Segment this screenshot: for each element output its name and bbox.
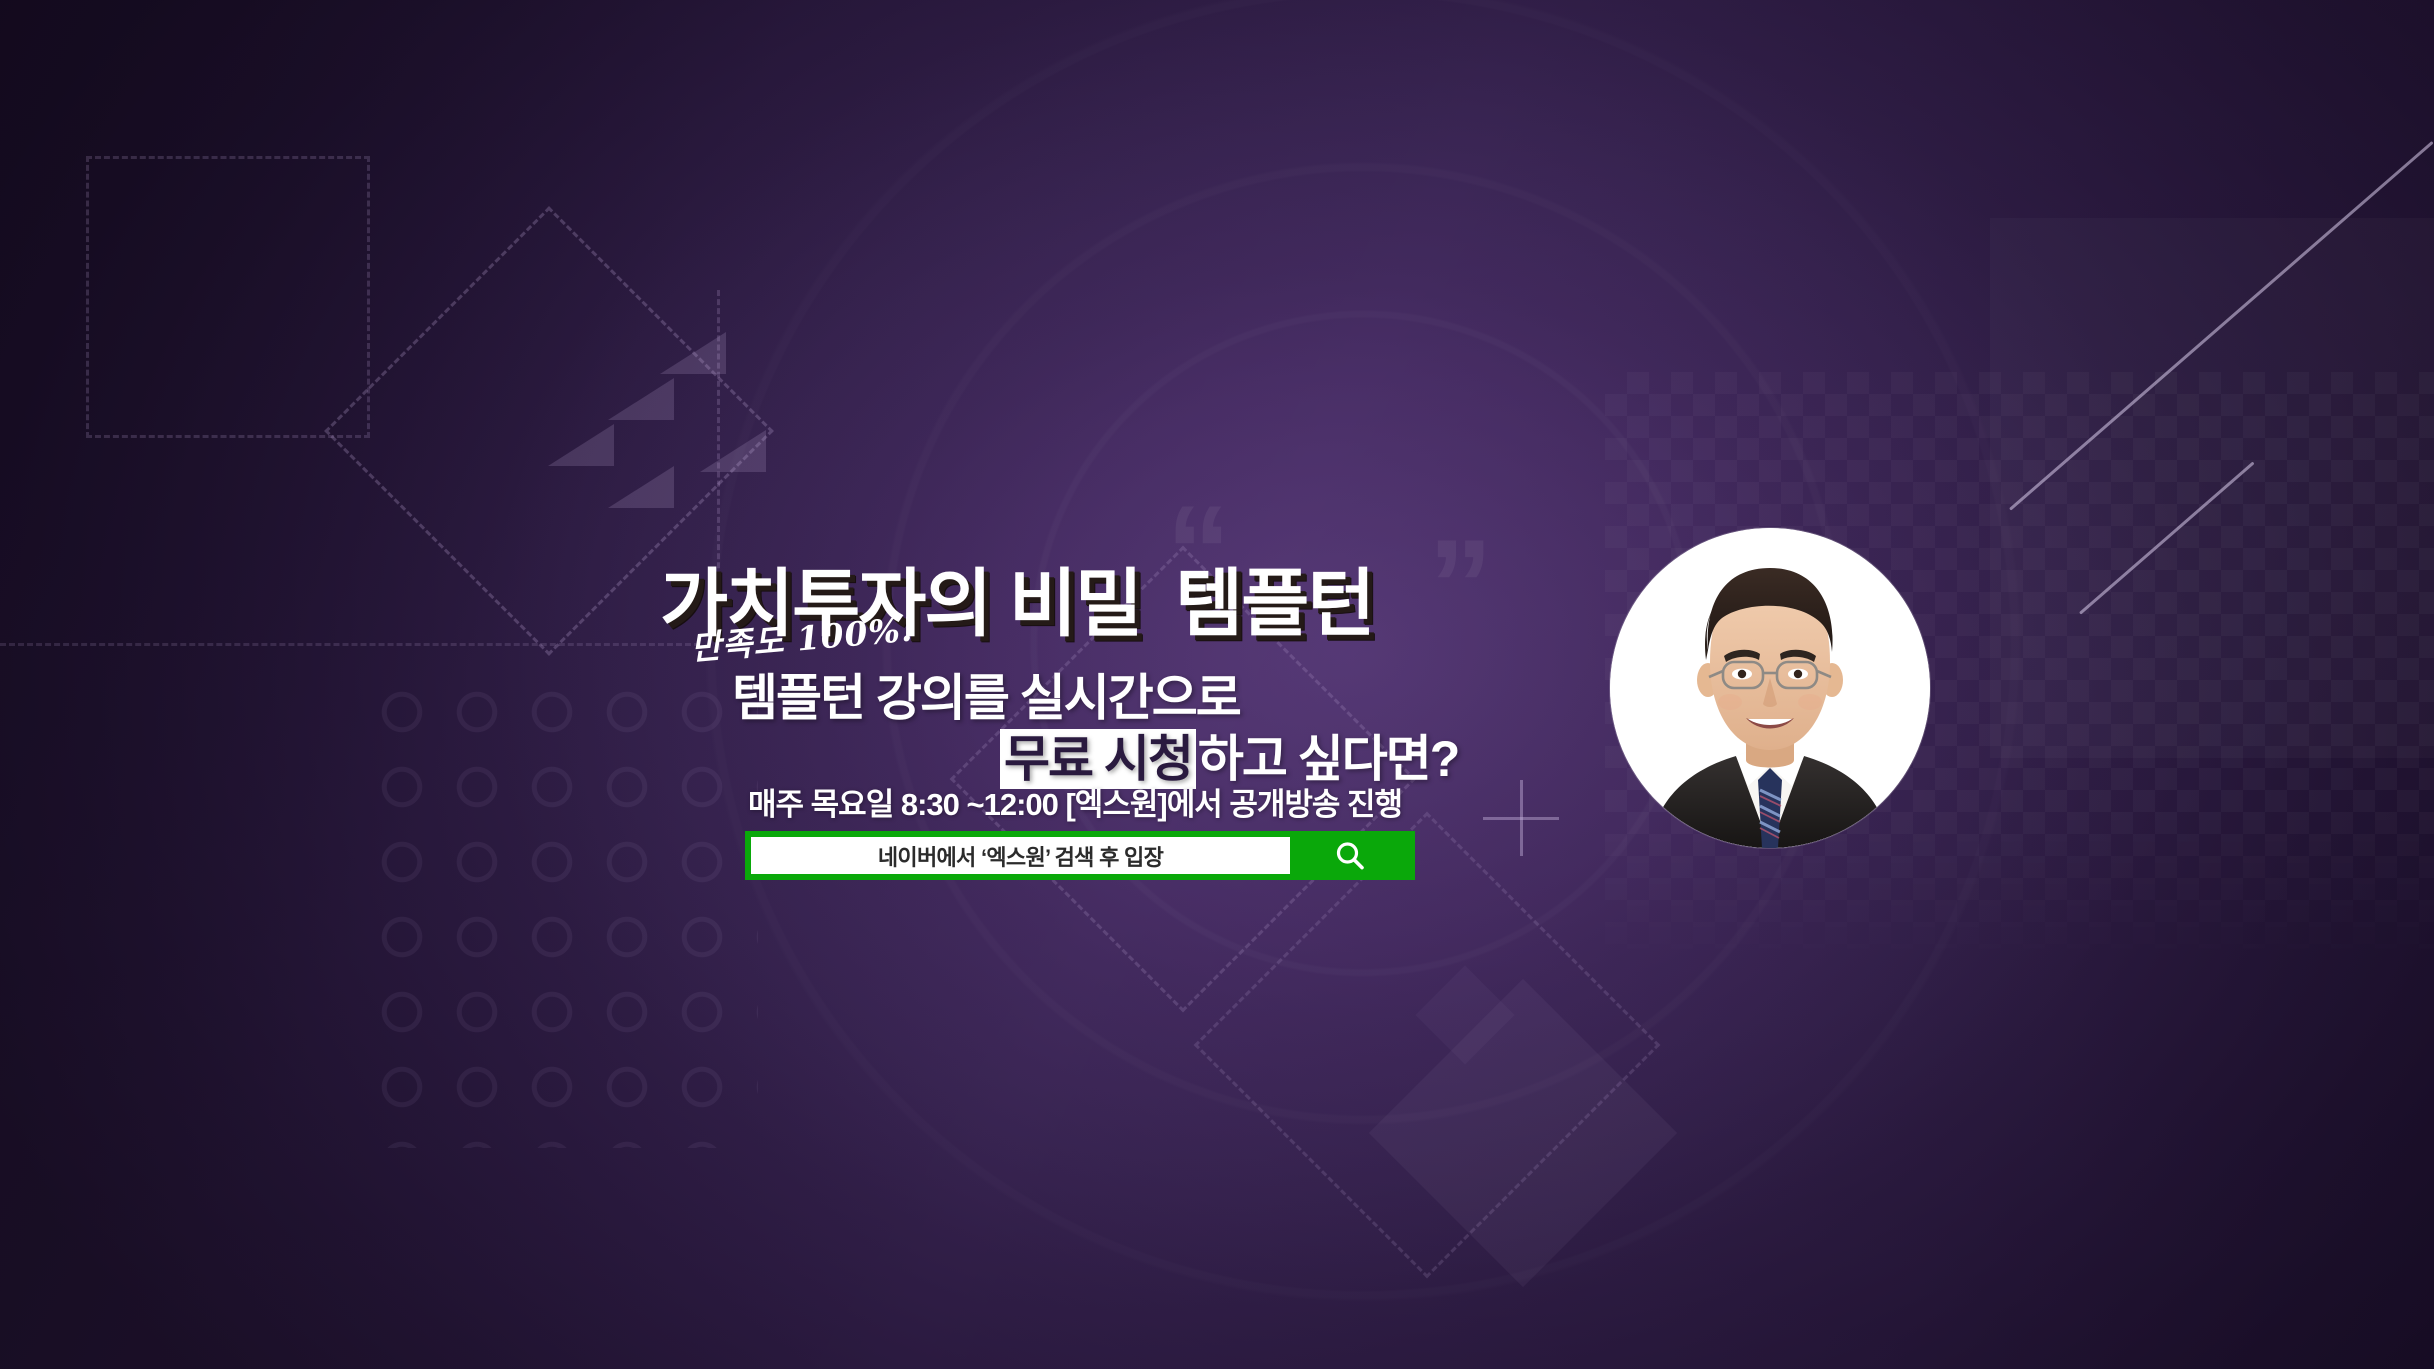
headline-part-2: 템플턴: [1175, 562, 1373, 645]
search-button[interactable]: [1290, 837, 1409, 874]
banner-content: “ ” 가치투자의 비밀템플턴 만족도 100%! 템플턴 강의를 실시간으로 …: [0, 0, 2434, 1369]
schedule-text: 매주 목요일 8:30 ~12:00 [엑스원]에서 공개방송 진행: [748, 779, 1402, 824]
promo-banner: “ ” 가치투자의 비밀템플턴 만족도 100%! 템플턴 강의를 실시간으로 …: [0, 0, 2434, 1369]
quote-close-mark: ”: [1428, 520, 1493, 650]
search-icon: [1333, 839, 1367, 873]
search-input[interactable]: 네이버에서 ‘엑스원’ 검색 후 입장: [751, 837, 1290, 874]
search-bar[interactable]: 네이버에서 ‘엑스원’ 검색 후 입장: [745, 831, 1415, 880]
avatar: [1610, 528, 1930, 848]
